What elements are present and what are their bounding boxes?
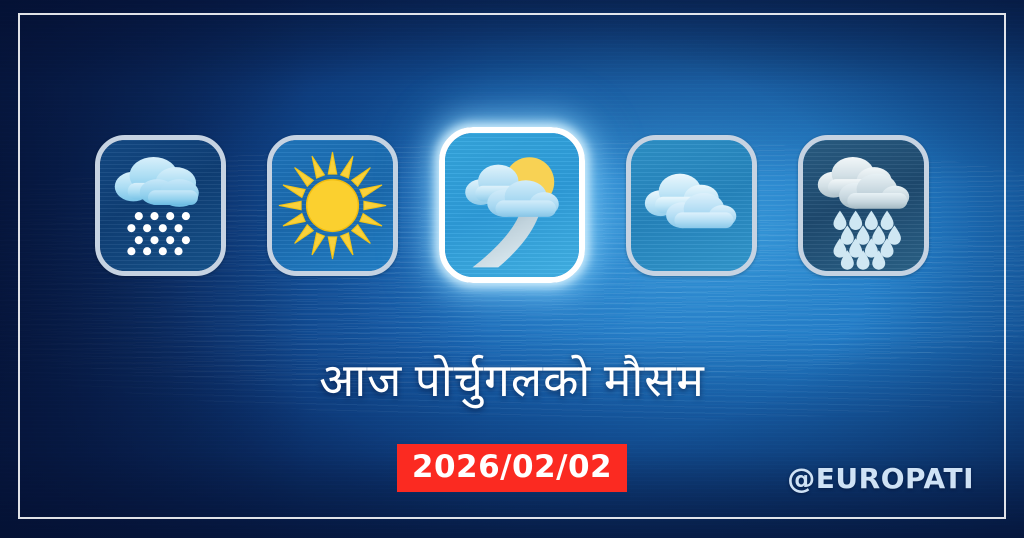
sun-icon-glyph (272, 140, 393, 271)
date-badge: 2026/02/02 (397, 444, 627, 492)
weather-icon-row (0, 131, 1024, 279)
snow-icon[interactable] (95, 135, 226, 276)
rain-icon[interactable] (798, 135, 929, 276)
snow-icon-glyph (100, 140, 221, 271)
weather-banner: आज पोर्चुगलको मौसम 2026/02/02 @EUROPATI (0, 0, 1024, 538)
rain-icon-glyph (803, 140, 924, 271)
cloudy-icon[interactable] (626, 135, 757, 276)
page-title: आज पोर्चुगलको मौसम (0, 348, 1024, 410)
partly-cloudy-icon-glyph (445, 133, 579, 277)
watermark-handle: @EUROPATI (787, 462, 974, 495)
partly-cloudy-icon[interactable] (439, 127, 585, 283)
sun-icon[interactable] (267, 135, 398, 276)
cloudy-icon-glyph (631, 140, 752, 271)
